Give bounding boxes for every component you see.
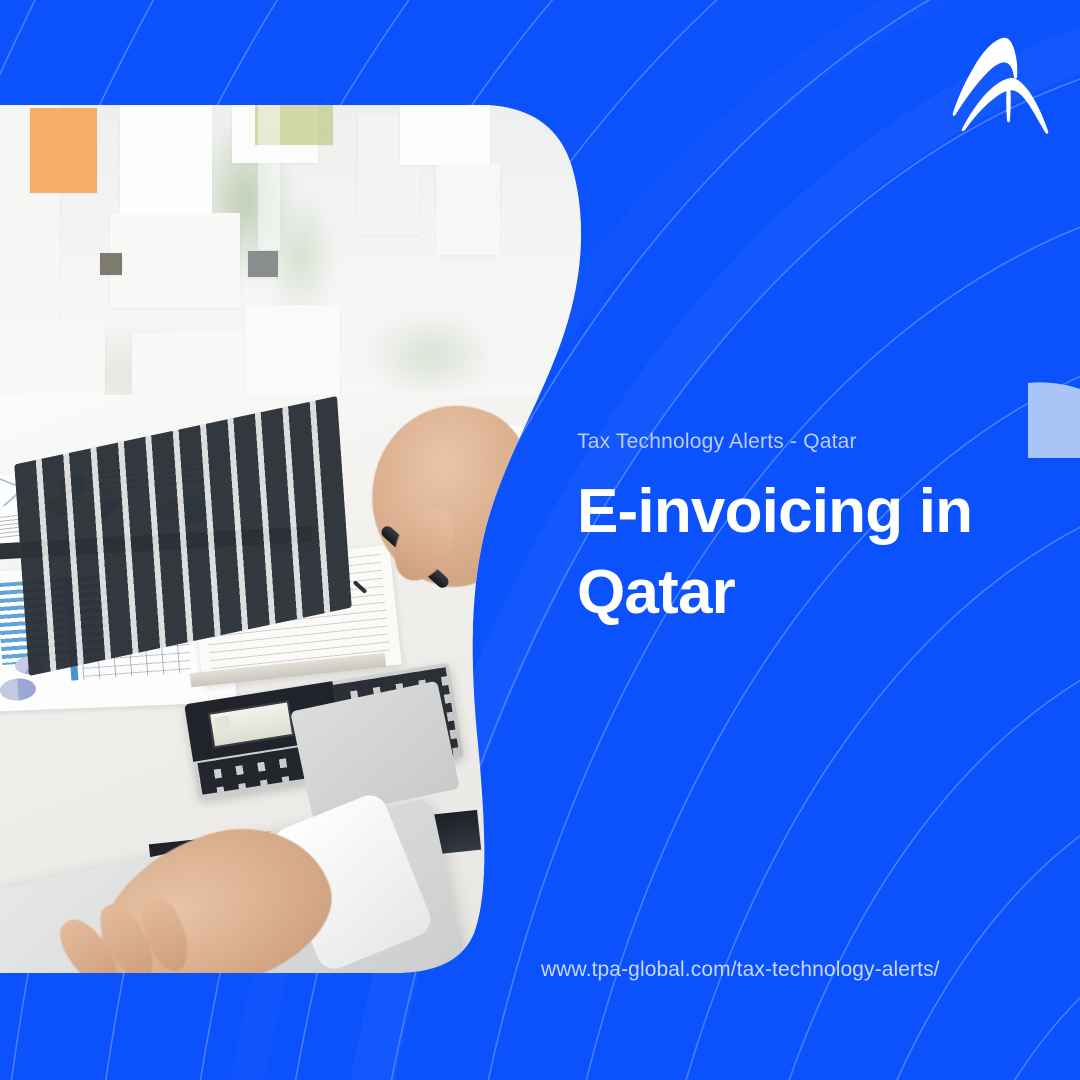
social-media-poster: Tax Technology Alerts - Qatar E-invoicin… xyxy=(0,0,1080,1080)
background-object xyxy=(100,253,122,275)
background-paper xyxy=(258,105,280,250)
footer-url[interactable]: www.tpa-global.com/tax-technology-alerts… xyxy=(541,958,940,982)
page-title: E-invoicing in Qatar xyxy=(577,472,1007,633)
desk-surface xyxy=(0,395,600,973)
logo-stem xyxy=(1006,82,1011,122)
tpa-global-logo xyxy=(944,34,1056,138)
background-paper xyxy=(400,105,490,165)
hero-photo xyxy=(0,105,600,973)
background-paper xyxy=(110,213,240,308)
orange-sticky-note xyxy=(30,108,97,193)
photo-content xyxy=(0,105,600,973)
eyebrow-label: Tax Technology Alerts - Qatar xyxy=(577,430,1047,454)
pie-chart-graphic xyxy=(0,677,37,702)
background-object xyxy=(248,251,278,277)
background-paper xyxy=(120,105,212,220)
text-block: Tax Technology Alerts - Qatar E-invoicin… xyxy=(577,430,1047,633)
background-paper xyxy=(436,165,500,255)
